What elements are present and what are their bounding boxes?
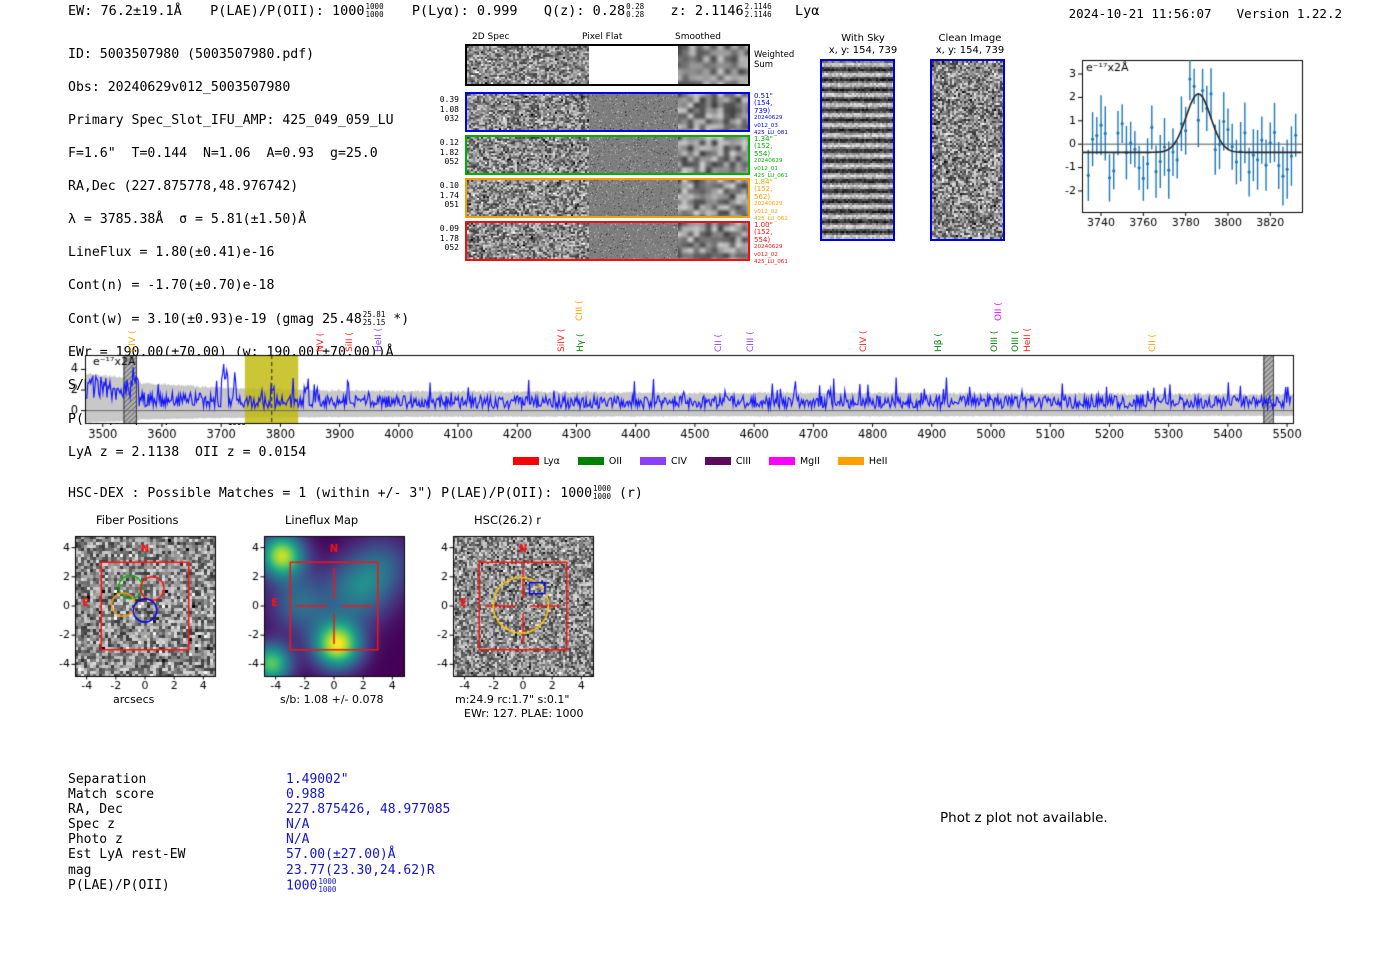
fiber-row-4: [465, 221, 750, 261]
fiber-4-2dspec: [467, 223, 589, 259]
legend-item-mgii: MgII: [769, 456, 820, 467]
fiber-1-2dspec: [467, 94, 589, 130]
header-qz: Q(z): 0.28: [544, 3, 625, 19]
line-marker-cii-7: CII (: [714, 310, 724, 352]
fiber-4-meta-1: (152, 554): [754, 229, 788, 244]
info-line-primary-spec: Primary Spec_Slot_IFU_AMP: 425_049_059_L…: [68, 113, 409, 130]
legend-swatch-lyα: [513, 457, 539, 465]
info-line-lineflux: LineFlux = 1.80(±0.41)e-16: [68, 245, 409, 262]
fiber-2-smoothed: [678, 137, 748, 173]
fiber-2-stat-1: 1.82: [425, 148, 459, 158]
match-key-6: mag: [68, 863, 286, 878]
fiber-2-left-stats: 0.121.82052: [425, 138, 459, 167]
lineflux-map-caption: s/b: 1.08 +/- 0.078: [280, 693, 384, 706]
match-value-2: 227.875426, 48.977085: [286, 802, 450, 817]
match-value-plae-frac: 10001000: [318, 878, 336, 894]
header-timestamp: 2024-10-21 11:56:07 Version 1.22.2: [1069, 6, 1342, 21]
info-line-params: F=1.6" T=0.144 N=1.06 A=0.93 g=25.0: [68, 146, 409, 163]
fiber-1-meta-1: (154, 739): [754, 100, 788, 115]
legend-label-ciii: CIII: [736, 456, 751, 467]
fiber-4-smoothed: [678, 223, 748, 259]
match-value-5: 57.00(±27.00)Å: [286, 847, 396, 862]
fiber-1-stat-2: 032: [425, 114, 459, 124]
emission-line-labels: CIV (NV (SiII (HeII (SiIV (Hγ (CIII (CII…: [0, 275, 1400, 475]
legend-label-civ: CIV: [671, 456, 687, 467]
line-marker-heii-3: HeII (: [374, 310, 384, 352]
header-version: Version 1.22.2: [1237, 6, 1342, 21]
fiber-4-pixelflat: [589, 223, 678, 259]
panel-title-lineflux-map: Lineflux Map: [285, 513, 358, 527]
match-value-3: N/A: [286, 817, 309, 832]
legend-swatch-oii: [578, 457, 604, 465]
fiber-row-3: [465, 178, 750, 218]
fiber-3-smoothed: [678, 180, 748, 216]
header-plya: P(Lyα): 0.999: [412, 3, 518, 19]
hsc-caption-2: EWr: 127. PLAE: 1000: [464, 707, 584, 720]
match-key-1: Match score: [68, 787, 286, 802]
header-z-lo: 2.1146: [745, 11, 772, 19]
weighted-sum-row: [465, 44, 750, 86]
fiber-3-right-meta: 1.84"(152, 562)20240629v012_02425_LU_062: [754, 179, 788, 223]
weighted-sum-pixelflat: [589, 46, 678, 84]
clean-image: [930, 59, 1005, 241]
spectrum-legend: LyαOIICIVCIIIMgIIHeII: [0, 450, 1400, 469]
fiber-positions-xlabel: arcsecs: [113, 693, 154, 706]
hscdex-heading-text: HSC-DEX : Possible Matches = 1 (within +…: [68, 486, 592, 501]
match-key-4: Photo z: [68, 832, 286, 847]
match-row-0: Separation1.49002": [68, 772, 450, 787]
fiber-4-left-stats: 0.091.78052: [425, 224, 459, 253]
cutout-clean-title: Clean Image: [939, 33, 1002, 44]
header-datetime: 2024-10-21 11:56:07: [1069, 6, 1212, 21]
2d-spectra-block: 2D Spec Pixel Flat Smoothed Weighted Sum…: [430, 32, 760, 257]
fiber-row-1: [465, 92, 750, 132]
match-key-5: Est LyA rest-EW: [68, 847, 286, 862]
weighted-sum-2dspec: [467, 46, 589, 84]
fiber-2-right-meta: 1.34"(152, 554)20240629v012_01425_LU_061: [754, 136, 788, 180]
fiber-1-meta-2: 20240629: [754, 115, 788, 122]
match-key-0: Separation: [68, 772, 286, 787]
legend-item-ciii: CIII: [705, 456, 751, 467]
match-value-plae: 1000: [286, 878, 317, 893]
hsc-image-panel: [423, 528, 623, 718]
fiber-3-stat-1: 1.74: [425, 191, 459, 201]
match-plae-lo: 1000: [318, 886, 336, 894]
header-qz-lo: 0.28: [626, 11, 644, 19]
line-marker-oii-12: OII (: [994, 279, 1004, 321]
line-marker-siiv-4: SiIV (: [557, 310, 567, 352]
line-marker-heii-14: HeII (: [1023, 310, 1033, 352]
match-row-4: Photo zN/A: [68, 832, 450, 847]
fiber-4-right-meta: 1.00"(152, 554)20240629v012_02425_LU_061: [754, 222, 788, 266]
fiber-1-left-stats: 0.391.08032: [425, 95, 459, 124]
fiber-4-stat-2: 052: [425, 243, 459, 253]
fiber-3-left-stats: 0.101.74051: [425, 181, 459, 210]
match-key-2: RA, Dec: [68, 802, 286, 817]
line-marker-siii-2: SiII (: [345, 310, 355, 352]
match-value-4: N/A: [286, 832, 309, 847]
fiber-2-stat-0: 0.12: [425, 138, 459, 148]
legend-item-lyα: Lyα: [513, 456, 560, 467]
fiber-1-smoothed: [678, 94, 748, 130]
with-sky-image: [820, 59, 895, 241]
line-marker-civ-9: CIV (: [859, 310, 869, 352]
fiber-4-meta-3: v012_02: [754, 252, 788, 259]
match-row-3: Spec zN/A: [68, 817, 450, 832]
lineflux-map-panel: [234, 528, 434, 718]
fiber-3-pixelflat: [589, 180, 678, 216]
header-z-line: Lyα: [795, 3, 819, 19]
fiber-1-meta-3: v012_03: [754, 123, 788, 130]
header-plae-lo: 1000: [366, 11, 384, 19]
line-marker-nv-1: NV (: [316, 310, 326, 352]
header-summary-line: EW: 76.2±19.1Å P(LAE)/P(OII): 1000100010…: [68, 3, 819, 19]
fiber-3-meta-2: 20240629: [754, 201, 788, 208]
fiber-2-meta-1: (152, 554): [754, 143, 788, 158]
header-z: z: 2.1146: [670, 3, 743, 19]
hscdex-heading-post: (r): [619, 486, 643, 501]
fiber-3-stat-2: 051: [425, 200, 459, 210]
match-key-3: Spec z: [68, 817, 286, 832]
fiber-3-stat-0: 0.10: [425, 181, 459, 191]
legend-item-civ: CIV: [640, 456, 687, 467]
hsc-caption-1: m:24.9 rc:1.7" s:0.1": [455, 693, 570, 706]
info-line-id: ID: 5003507980 (5003507980.pdf): [68, 47, 409, 64]
legend-item-heii: HeII: [838, 456, 888, 467]
line-marker-civ-0: CIV (: [128, 310, 138, 352]
full-spectrum-panel: CIV (NV (SiII (HeII (SiIV (Hγ (CIII (CII…: [0, 275, 1400, 475]
header-plae-value: 1000: [332, 3, 365, 19]
header-ew: EW: 76.2±19.1Å: [68, 3, 182, 19]
fiber-2-meta-2: 20240629: [754, 158, 788, 165]
legend-swatch-mgii: [769, 457, 795, 465]
spec2d-title-smoothed: Smoothed: [675, 32, 721, 42]
legend-label-mgii: MgII: [800, 456, 820, 467]
fiber-3-meta-3: v012_02: [754, 209, 788, 216]
info-line-lambda: λ = 3785.38Å σ = 5.81(±1.50)Å: [68, 212, 409, 229]
legend-swatch-heii: [838, 457, 864, 465]
cutout-with-sky-coords: x, y: 154, 739: [829, 45, 898, 56]
match-row-5: Est LyA rest-EW57.00(±27.00)Å: [68, 847, 450, 862]
legend-label-oii: OII: [609, 456, 622, 467]
match-value-1: 0.988: [286, 787, 325, 802]
fiber-positions-canvas: [45, 528, 245, 718]
match-value-6: 23.77(23.30,24.62)R: [286, 863, 435, 878]
legend-swatch-ciii: [705, 457, 731, 465]
fiber-3-meta-1: (152, 562): [754, 186, 788, 201]
match-row-2: RA, Dec227.875426, 48.977085: [68, 802, 450, 817]
cutout-with-sky-title: With Sky: [841, 33, 885, 44]
fiber-3-2dspec: [467, 180, 589, 216]
fiber-1-pixelflat: [589, 94, 678, 130]
info-line-radec: RA,Dec (227.875778,48.976742): [68, 179, 409, 196]
fiber-positions-panel: [45, 528, 245, 718]
fiber-4-stat-1: 1.78: [425, 234, 459, 244]
fiber-2-stat-2: 052: [425, 157, 459, 167]
panel-title-fiber-positions: Fiber Positions: [96, 513, 179, 527]
line-profile-plot: [1040, 52, 1310, 252]
fiber-4-stat-0: 0.09: [425, 224, 459, 234]
match-table: Separation1.49002"Match score0.988RA, De…: [68, 772, 450, 893]
photz-message: Phot z plot not available.: [940, 810, 1108, 826]
fiber-2-pixelflat: [589, 137, 678, 173]
fiber-1-stat-1: 1.08: [425, 105, 459, 115]
fiber-4-meta-4: 425_LU_061: [754, 259, 788, 266]
line-marker-hβ-10: Hβ (: [934, 310, 944, 352]
weighted-sum-smoothed: [678, 46, 748, 84]
line-marker-ciii-8: CIII (: [746, 310, 756, 352]
line-marker-oiii-13: OIII (: [1011, 310, 1021, 352]
spec2d-title-2dspec: 2D Spec: [472, 32, 509, 42]
match-key-plae: P(LAE)/P(OII): [68, 878, 286, 893]
spec2d-title-pixelflat: Pixel Flat: [582, 32, 622, 42]
match-row-plae: P(LAE)/P(OII)100010001000: [68, 878, 450, 894]
fiber-4-meta-2: 20240629: [754, 244, 788, 251]
legend-item-oii: OII: [578, 456, 622, 467]
lineflux-map-canvas: [234, 528, 434, 718]
weighted-sum-label: Weighted Sum: [754, 50, 794, 70]
header-plae-label: P(LAE)/P(OII):: [210, 3, 324, 19]
legend-label-lyα: Lyα: [544, 456, 560, 467]
fiber-2-2dspec: [467, 137, 589, 173]
match-row-6: mag23.77(23.30,24.62)R: [68, 863, 450, 878]
fiber-row-2: [465, 135, 750, 175]
hsc-image-canvas: [423, 528, 623, 718]
legend-label-heii: HeII: [869, 456, 888, 467]
line-marker-cii-15: CII (: [1148, 310, 1158, 352]
fiber-2-meta-3: v012_01: [754, 166, 788, 173]
match-row-1: Match score0.988: [68, 787, 450, 802]
info-line-obs: Obs: 20240629v012_5003507980: [68, 80, 409, 97]
line-profile-canvas: [1040, 52, 1310, 252]
line-marker-ciii-6: CIII (: [575, 279, 585, 321]
match-value-0: 1.49002": [286, 772, 349, 787]
fiber-1-stat-0: 0.39: [425, 95, 459, 105]
legend-swatch-civ: [640, 457, 666, 465]
fiber-1-right-meta: 0.51"(154, 739)20240629v012_03425_LU_081: [754, 93, 788, 137]
cutout-clean-coords: x, y: 154, 739: [936, 45, 1005, 56]
hscdex-heading-lo: 1000: [593, 493, 611, 501]
hscdex-heading: HSC-DEX : Possible Matches = 1 (within +…: [68, 485, 643, 501]
panel-title-hsc: HSC(26.2) r: [474, 513, 541, 527]
